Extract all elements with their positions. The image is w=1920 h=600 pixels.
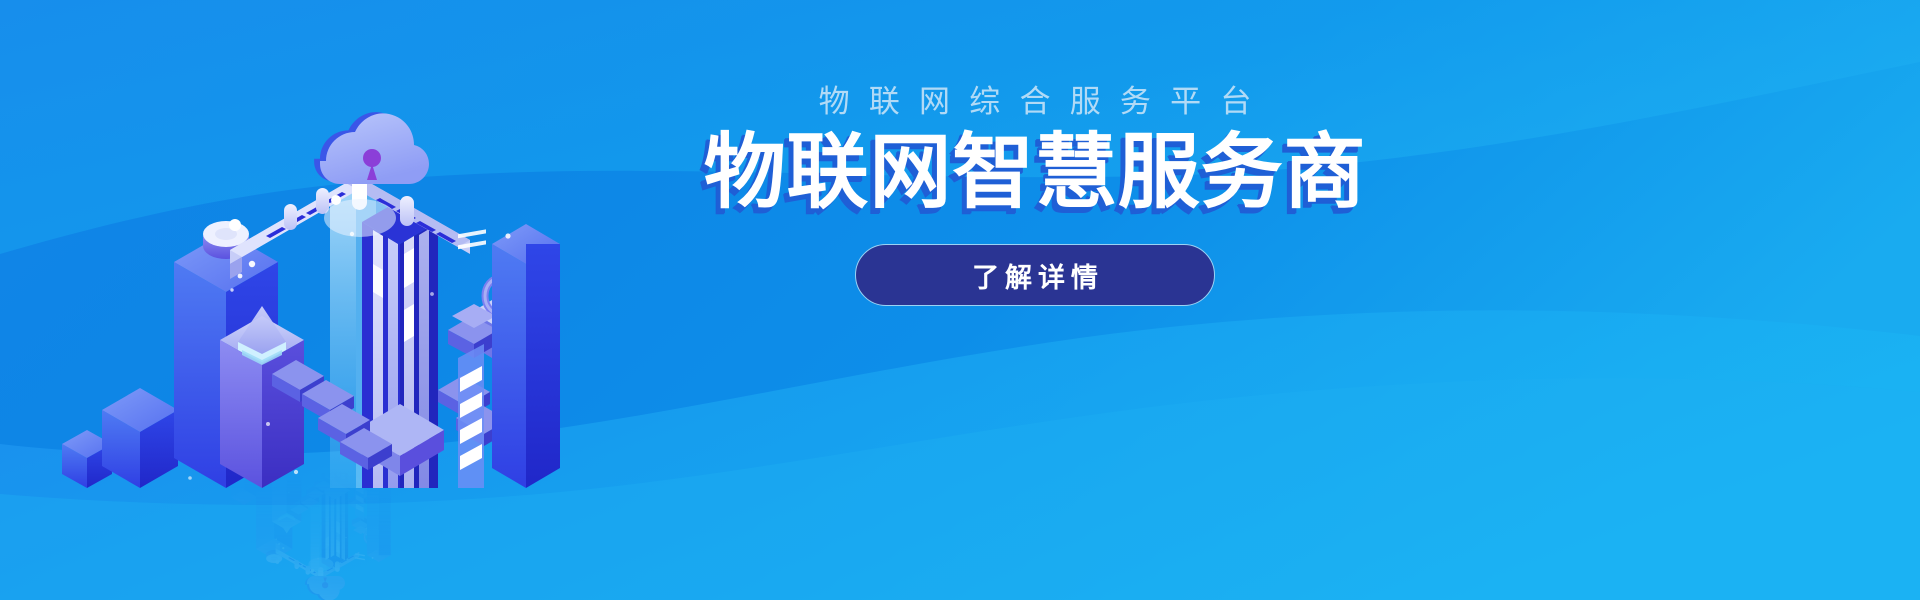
tower-right-tall xyxy=(492,224,560,488)
striped-column xyxy=(458,344,484,488)
cta-container: 了解详情 xyxy=(855,244,1215,306)
banner-headline: 物联网智慧服务商 xyxy=(704,125,1367,220)
banner-content: 物联网综合服务平台 物联网智慧服务商 了解详情 xyxy=(640,86,1430,306)
learn-more-button[interactable]: 了解详情 xyxy=(855,244,1215,306)
banner-subtitle: 物联网综合服务平台 xyxy=(799,86,1270,117)
stacked-card-blocks xyxy=(448,229,498,358)
hero-banner: 物联网综合服务平台 物联网智慧服务商 了解详情 xyxy=(0,0,1920,600)
tower-medium-left xyxy=(102,388,178,488)
cloud-lock-icon xyxy=(314,112,429,184)
isometric-city-illustration xyxy=(40,58,560,488)
